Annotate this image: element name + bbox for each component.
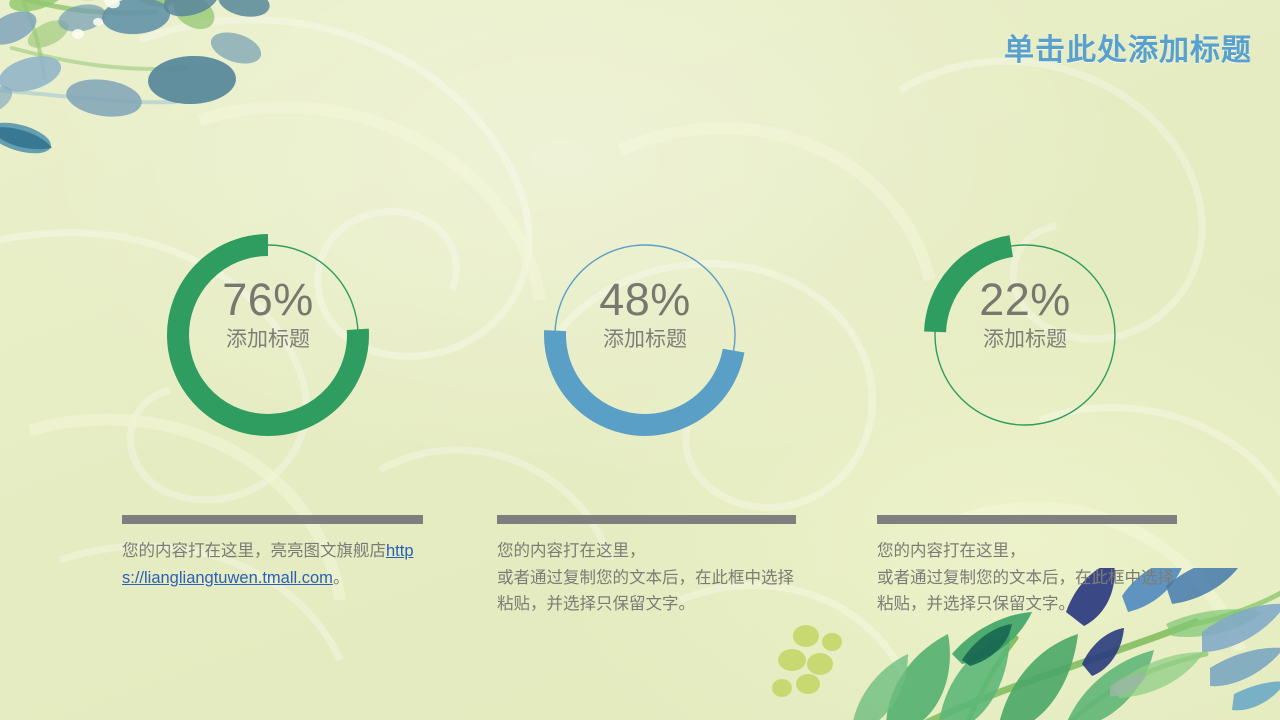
body-text-1: 您的内容打在这里，亮亮图文旗舰店https://liangliangtuwen.… xyxy=(122,538,430,591)
divider-bar-1 xyxy=(122,515,423,524)
donut-chart-3[interactable]: 22% 添加标题 xyxy=(855,190,1195,490)
body-text-1-lead: 您的内容打在这里，亮亮图文旗舰店 xyxy=(122,542,386,560)
stat-column-1: 76% 添加标题 您的内容打在这里，亮亮图文旗舰店https://liangli… xyxy=(98,190,438,690)
donut-value-arc-1 xyxy=(178,245,358,425)
body-text-2: 您的内容打在这里， 或者通过复制您的文本后，在此框中选择粘贴，并选择只保留文字。 xyxy=(497,538,809,618)
divider-bar-2 xyxy=(497,515,796,524)
donut-chart-1[interactable]: 76% 添加标题 xyxy=(98,190,438,490)
stat-column-2: 48% 添加标题 您的内容打在这里， 或者通过复制您的文本后，在此框中选择粘贴，… xyxy=(475,190,815,690)
body-text-3: 您的内容打在这里， 或者通过复制您的文本后，在此框中选择粘贴，并选择只保留文字。 xyxy=(877,538,1177,618)
donut-chart-2[interactable]: 48% 添加标题 xyxy=(475,190,815,490)
donut-value-arc-2 xyxy=(555,331,734,425)
donut-value-arc-3 xyxy=(935,246,1011,332)
page-title: 单击此处添加标题 xyxy=(1004,25,1252,69)
stat-column-3: 22% 添加标题 您的内容打在这里， 或者通过复制您的文本后，在此框中选择粘贴，… xyxy=(855,190,1195,690)
divider-bar-3 xyxy=(877,515,1177,524)
body-text-1-tail: 。 xyxy=(333,569,350,587)
slide-canvas: 单击此处添加标题 76% 添加标题 您的内容打在这里，亮亮图文旗舰店https:… xyxy=(0,0,1280,720)
